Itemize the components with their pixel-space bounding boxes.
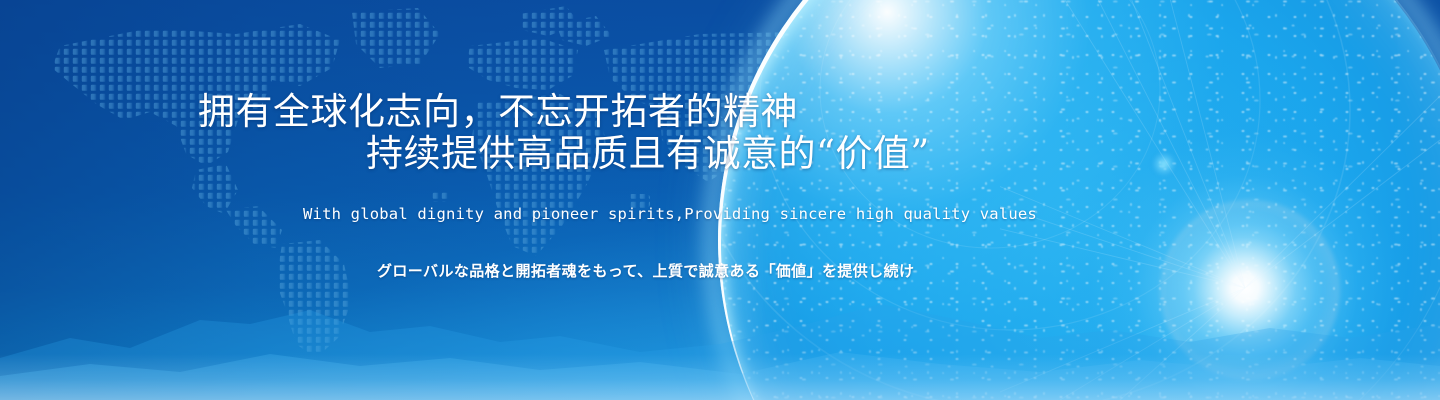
lens-flare-dot <box>1152 152 1176 176</box>
headline-line-1: 拥有全球化志向，不忘开拓者的精神 <box>198 90 798 134</box>
headline-block: 拥有全球化志向，不忘开拓者的精神 持续提供高品质且有诚意的“价值” With g… <box>0 0 1060 400</box>
subline-english: With global dignity and pioneer spirits,… <box>303 205 1037 223</box>
headline-line-2: 持续提供高品质且有诚意的“价值” <box>366 132 930 176</box>
subline-japanese: グローバルな品格と開拓者魂をもって、上質で誠意ある「価値」を提供し続け <box>377 260 914 281</box>
hero-banner: 拥有全球化志向，不忘开拓者的精神 持续提供高品质且有诚意的“价值” With g… <box>0 0 1440 400</box>
